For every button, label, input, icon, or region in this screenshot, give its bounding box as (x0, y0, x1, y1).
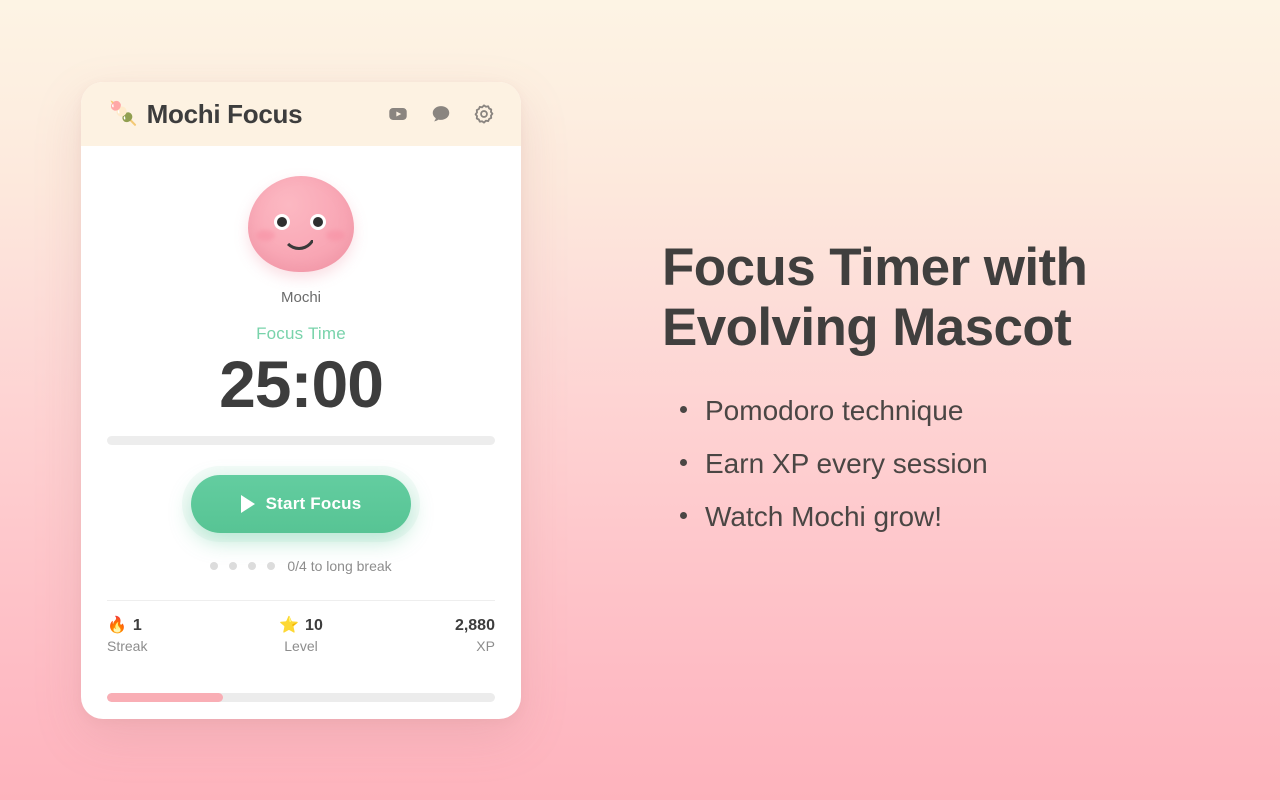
feature-list: Pomodoro techniqueEarn XP every sessionW… (662, 397, 1222, 531)
youtube-icon[interactable] (387, 103, 409, 125)
timer-mode-label: Focus Time (107, 324, 495, 344)
mascot-eye-right (310, 214, 326, 230)
timer-area: Focus Time 25:00 (107, 324, 495, 421)
feature-item: Earn XP every session (662, 450, 1222, 478)
mascot-smile (282, 232, 316, 250)
xp-progress-bar (107, 693, 495, 702)
feature-label: Watch Mochi grow! (705, 503, 942, 531)
stat-level: ⭐ 10 Level (236, 617, 365, 654)
stat-streak-label: Streak (107, 638, 147, 654)
header-icon-group (387, 103, 495, 125)
stat-level-value: 10 (305, 617, 323, 635)
stat-level-label: Level (284, 638, 317, 654)
stats-divider (107, 600, 495, 601)
headline: Focus Timer with Evolving Mascot (662, 238, 1222, 359)
stats-row: 🔥 1 Streak ⭐ 10 Level 2,880 XP (107, 617, 495, 654)
mochi-focus-app-card: 🍡 Mochi Focus (81, 82, 521, 719)
mascot-pupil-left (277, 217, 287, 227)
headline-line-1: Focus Timer with (662, 238, 1222, 298)
star-emoji: ⭐ (279, 618, 299, 634)
timer-countdown: 25:00 (107, 348, 495, 421)
session-dot (248, 562, 256, 570)
headline-line-2: Evolving Mascot (662, 298, 1222, 358)
feature-item: Watch Mochi grow! (662, 503, 1222, 531)
app-header: 🍡 Mochi Focus (81, 82, 521, 146)
bullet-icon (680, 459, 687, 466)
stat-streak-value-row: 🔥 1 (107, 617, 142, 635)
primary-action-row: Start Focus (107, 475, 495, 533)
chat-bubble-icon[interactable] (430, 103, 452, 125)
session-dot (229, 562, 237, 570)
app-title: Mochi Focus (147, 99, 303, 130)
session-dots (210, 562, 275, 570)
stat-streak: 🔥 1 Streak (107, 617, 236, 654)
xp-progress-fill (107, 693, 223, 702)
mascot-cheek-left (256, 230, 275, 241)
app-brand: 🍡 Mochi Focus (109, 99, 387, 130)
flame-emoji: 🔥 (107, 618, 127, 634)
stat-xp: 2,880 XP (366, 617, 495, 654)
play-icon (241, 495, 255, 513)
session-progress-label: 0/4 to long break (287, 558, 391, 574)
stat-level-value-row: ⭐ 10 (279, 617, 323, 635)
stat-xp-label: XP (476, 638, 495, 654)
dango-emoji: 🍡 (109, 102, 138, 125)
session-dot (210, 562, 218, 570)
stat-xp-value: 2,880 (455, 617, 495, 635)
app-body: Mochi Focus Time 25:00 Start Focus 0/4 t… (81, 146, 521, 719)
session-dot (267, 562, 275, 570)
marketing-copy: Focus Timer with Evolving Mascot Pomodor… (662, 238, 1222, 556)
session-progress-row: 0/4 to long break (107, 558, 495, 574)
start-focus-label: Start Focus (266, 494, 362, 514)
mascot-name-label: Mochi (281, 289, 321, 306)
mascot-cheek-right (326, 230, 345, 241)
bullet-icon (680, 406, 687, 413)
start-focus-button[interactable]: Start Focus (191, 475, 411, 533)
mochi-mascot-avatar[interactable] (248, 176, 354, 272)
timer-progress-bar (107, 436, 495, 445)
mascot-area: Mochi (107, 146, 495, 306)
gear-icon[interactable] (473, 103, 495, 125)
stat-xp-value-row: 2,880 (455, 617, 495, 635)
feature-label: Earn XP every session (705, 450, 988, 478)
bullet-icon (680, 512, 687, 519)
feature-label: Pomodoro technique (705, 397, 963, 425)
mascot-pupil-right (313, 217, 323, 227)
mascot-eye-left (274, 214, 290, 230)
feature-item: Pomodoro technique (662, 397, 1222, 425)
stat-streak-value: 1 (133, 617, 142, 635)
